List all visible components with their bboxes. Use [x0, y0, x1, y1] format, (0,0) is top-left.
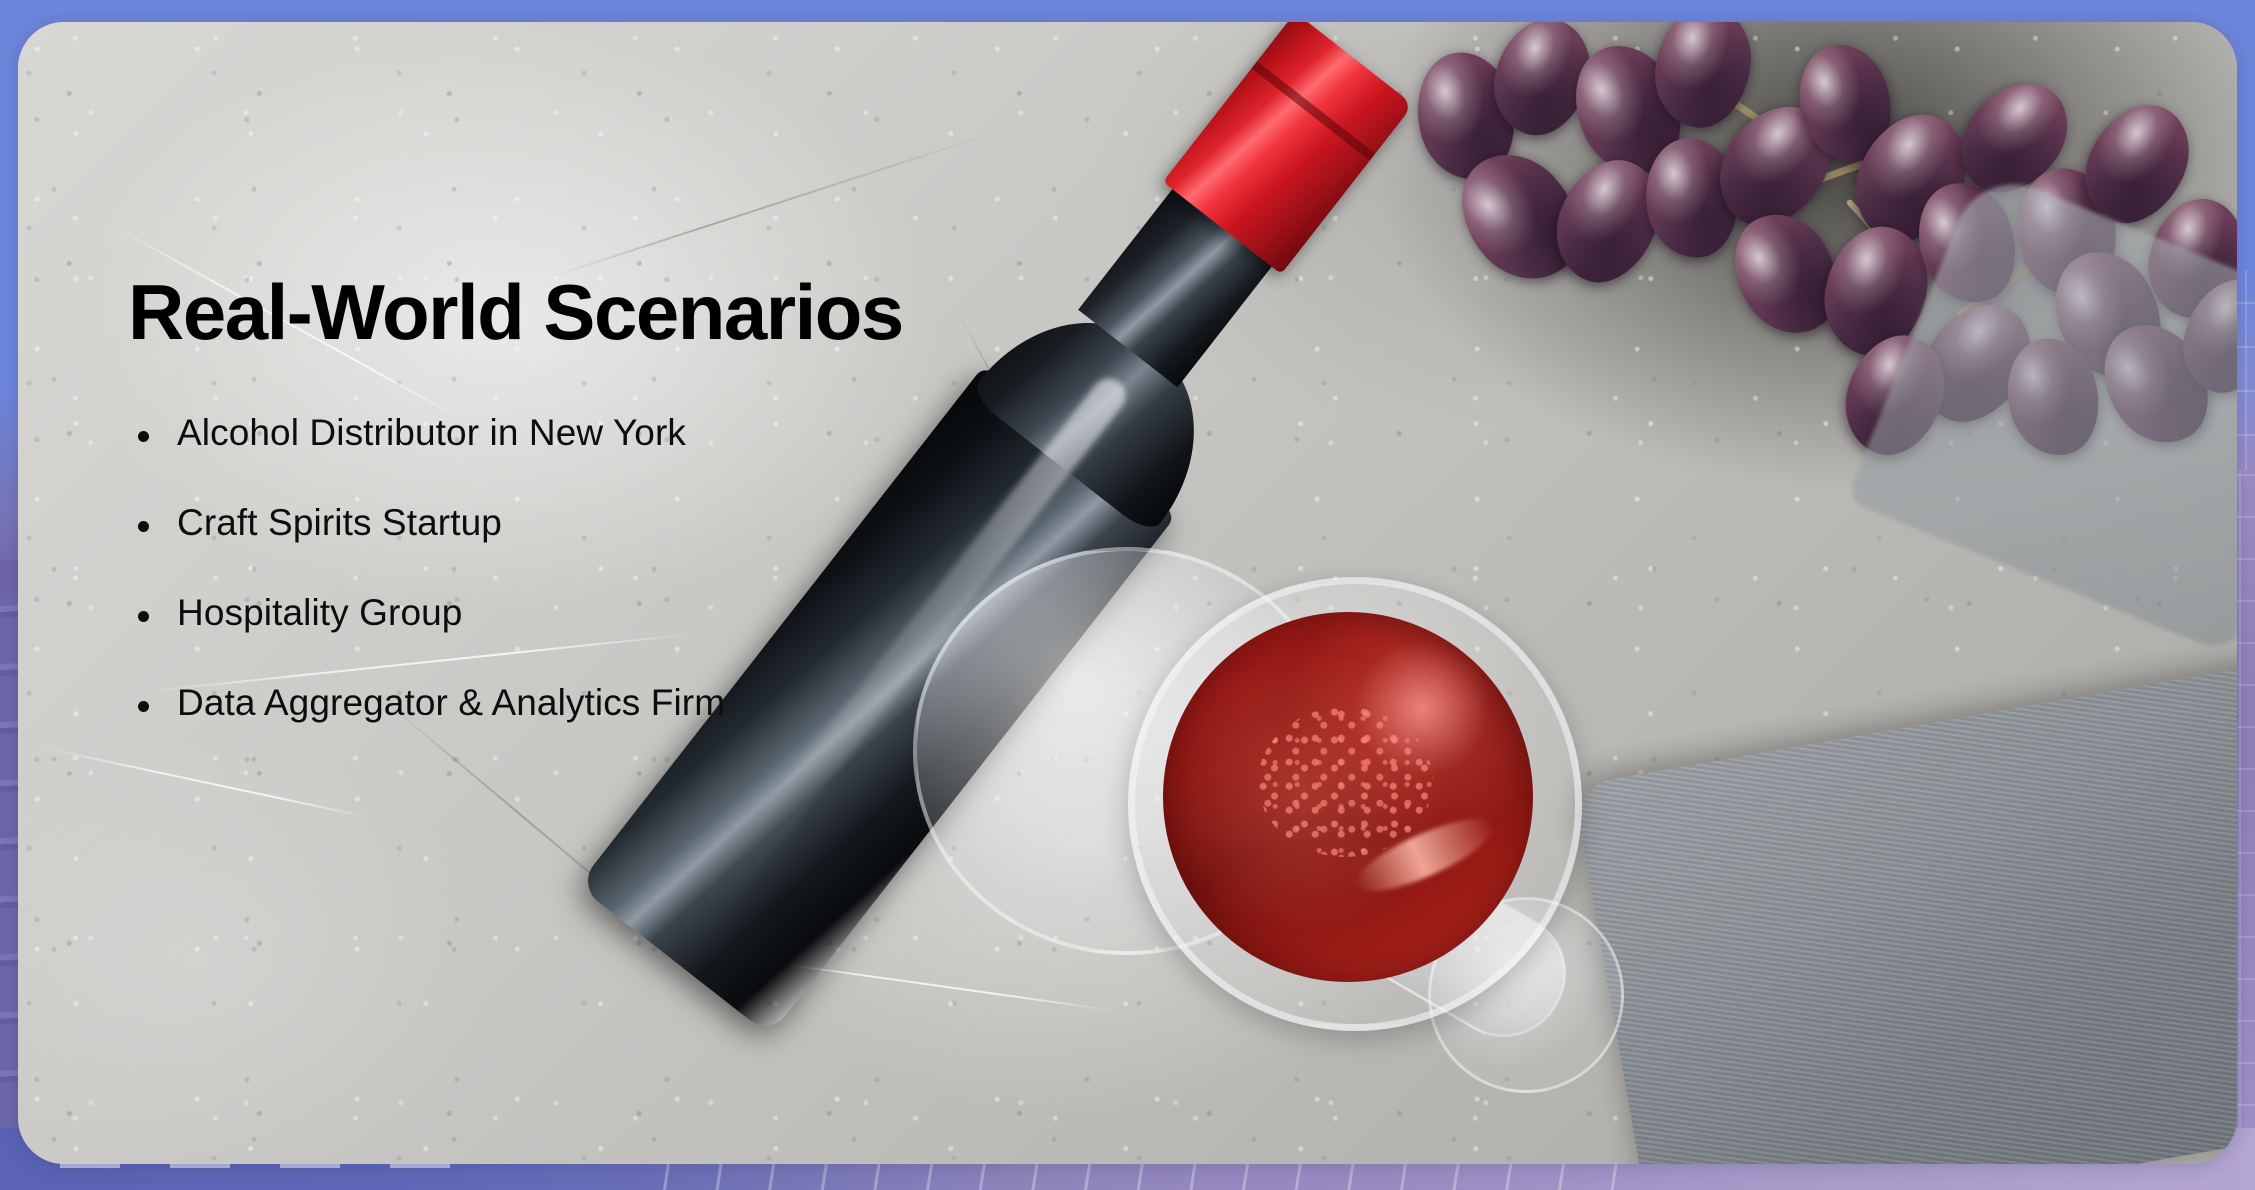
- list-item-label: Craft Spirits Startup: [177, 502, 502, 544]
- list-item: Craft Spirits Startup: [138, 502, 1138, 544]
- glass-bowl: [1128, 577, 1582, 1031]
- list-item: Alcohol Distributor in New York: [138, 412, 1138, 454]
- slide-text-block: Real-World Scenarios Alcohol Distributor…: [128, 272, 1188, 354]
- list-item-label: Hospitality Group: [177, 592, 463, 634]
- list-item-label: Alcohol Distributor in New York: [177, 412, 686, 454]
- page-title: Real-World Scenarios: [128, 272, 1188, 354]
- bullet-dot-icon: [138, 431, 149, 442]
- list-item: Hospitality Group: [138, 592, 1138, 634]
- bullet-dot-icon: [138, 611, 149, 622]
- bullet-dot-icon: [138, 701, 149, 712]
- wine-bubbles: [1258, 707, 1433, 857]
- list-item-label: Data Aggregator & Analytics Firm: [177, 682, 725, 724]
- slide-photo-card: Real-World Scenarios Alcohol Distributor…: [18, 22, 2237, 1164]
- slide-frame: Real-World Scenarios Alcohol Distributor…: [0, 0, 2255, 1190]
- red-wine-surface: [1163, 612, 1533, 982]
- scenario-bullet-list: Alcohol Distributor in New York Craft Sp…: [138, 412, 1138, 724]
- bullet-dot-icon: [138, 521, 149, 532]
- list-item: Data Aggregator & Analytics Firm: [138, 682, 1138, 724]
